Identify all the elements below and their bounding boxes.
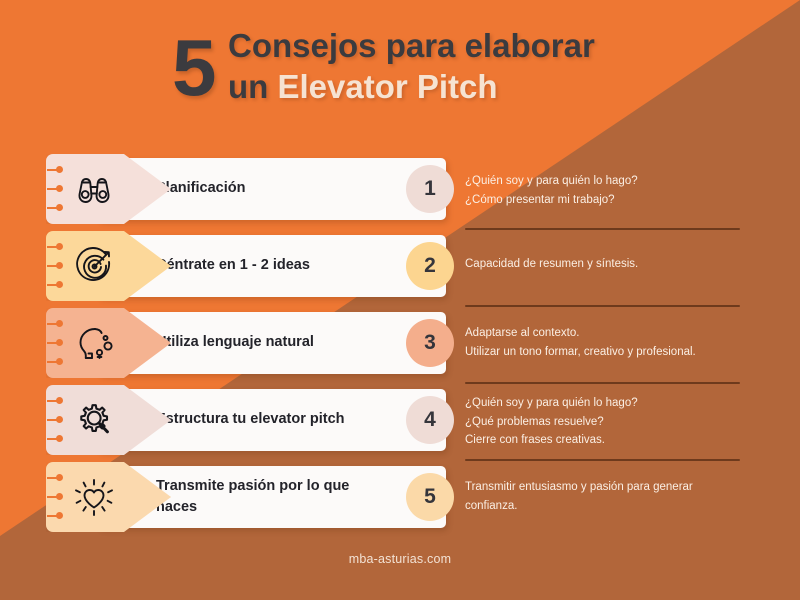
- tip-note-line: Transmitir entusiasmo y pasión para gene…: [465, 478, 750, 497]
- header-text-lines: Consejos para elaborar un Elevator Pitch: [228, 26, 595, 107]
- tip-title: Transmite pasión por lo que haces: [156, 466, 371, 528]
- header-title-block: 5 Consejos para elaborar un Elevator Pit…: [160, 22, 720, 127]
- tip-note-line: Capacidad de resumen y síntesis.: [465, 255, 750, 274]
- binder-ring: [56, 262, 63, 269]
- binder-ring: [56, 339, 63, 346]
- tip-note-line: ¿Cómo presentar mi trabajo?: [465, 191, 750, 210]
- tip-note-line: confianza.: [465, 497, 750, 516]
- speaking-head-icon: [68, 317, 120, 369]
- header-number: 5: [172, 28, 217, 108]
- binoculars-icon: [68, 163, 120, 215]
- binder-ring: [56, 474, 63, 481]
- binder-ring: [56, 416, 63, 423]
- tip-number-badge: 1: [406, 165, 454, 213]
- tip-notes: Capacidad de resumen y síntesis.: [465, 255, 750, 274]
- header-line-2-prefix: un: [228, 68, 277, 105]
- tip-note-line: ¿Quién soy y para quién lo hago?: [465, 172, 750, 191]
- binder-ring: [56, 358, 63, 365]
- tip-number-badge: 4: [406, 396, 454, 444]
- gear-magnifier-icon: [68, 394, 120, 446]
- binder-rings: [48, 166, 70, 212]
- tip-note-line: ¿Quién soy y para quién lo hago?: [465, 394, 750, 413]
- tip-note-line: ¿Qué problemas resuelve?: [465, 413, 750, 432]
- tip-note-line: Cierre con frases creativas.: [465, 431, 750, 450]
- infographic-canvas: 5 Consejos para elaborar un Elevator Pit…: [0, 0, 800, 600]
- binder-ring: [56, 397, 63, 404]
- binder-rings: [48, 243, 70, 289]
- target-dart-icon: [68, 240, 120, 292]
- binder-ring: [56, 320, 63, 327]
- notes-separator: [465, 305, 740, 307]
- tip-number-badge: 2: [406, 242, 454, 290]
- footer-website: mba-asturias.com: [0, 552, 800, 566]
- binder-ring: [56, 243, 63, 250]
- header-line-1: Consejos para elaborar: [228, 26, 595, 67]
- binder-rings: [48, 320, 70, 366]
- binder-ring: [56, 185, 63, 192]
- tip-title: Planificación: [156, 158, 371, 220]
- tip-title: Céntrate en 1 - 2 ideas: [156, 235, 371, 297]
- tip-number-badge: 5: [406, 473, 454, 521]
- tip-note-line: Utilizar un tono formar, creativo y prof…: [465, 343, 750, 362]
- binder-ring: [56, 204, 63, 211]
- binder-ring: [56, 435, 63, 442]
- tip-number-badge: 3: [406, 319, 454, 367]
- tip-note-line: Adaptarse al contexto.: [465, 324, 750, 343]
- notes-separator: [465, 459, 740, 461]
- binder-rings: [48, 474, 70, 520]
- header-line-2-highlight: Elevator Pitch: [277, 68, 497, 105]
- header-line-2: un Elevator Pitch: [228, 67, 595, 108]
- notes-separator: [465, 382, 740, 384]
- binder-rings: [48, 397, 70, 443]
- tip-title: Utiliza lenguaje natural: [156, 312, 371, 374]
- tip-notes: Transmitir entusiasmo y pasión para gene…: [465, 478, 750, 515]
- tip-notes: ¿Quién soy y para quién lo hago?¿Qué pro…: [465, 394, 750, 450]
- binder-ring: [56, 493, 63, 500]
- tip-title: Estructura tu elevator pitch: [156, 389, 371, 451]
- tip-notes: Adaptarse al contexto.Utilizar un tono f…: [465, 324, 750, 361]
- binder-ring: [56, 512, 63, 519]
- binder-ring: [56, 281, 63, 288]
- notes-separator: [465, 228, 740, 230]
- tip-notes: ¿Quién soy y para quién lo hago?¿Cómo pr…: [465, 172, 750, 209]
- shining-heart-icon: [68, 471, 120, 523]
- binder-ring: [56, 166, 63, 173]
